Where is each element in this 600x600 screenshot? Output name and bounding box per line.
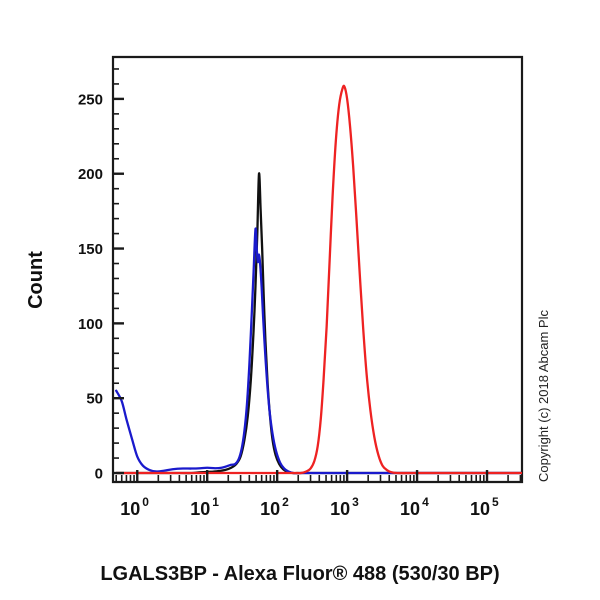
x-tick-label: 102 [260,495,289,519]
y-tick-label: 200 [78,166,103,183]
svg-text:1: 1 [212,495,219,509]
svg-text:10: 10 [330,499,350,519]
x-tick-label: 101 [190,495,219,519]
x-tick-label: 104 [400,495,429,519]
svg-text:10: 10 [260,499,280,519]
flow-cytometry-figure: 100101102103104105 050100150200250 LGALS… [0,0,600,600]
y-tick-label: 150 [78,241,103,258]
svg-text:4: 4 [422,495,429,509]
y-axis-title: Count [25,251,47,309]
y-tick-label: 250 [78,91,103,108]
y-axis-ticks: 050100150200250 [78,69,124,483]
trace-lgals3bp-stained [116,86,522,473]
x-tick-label: 105 [470,495,499,519]
x-axis-ticks: 100101102103104105 [116,470,520,519]
svg-text:2: 2 [282,495,289,509]
svg-text:10: 10 [120,499,140,519]
svg-text:10: 10 [190,499,210,519]
y-tick-label: 50 [86,391,103,408]
svg-text:0: 0 [142,495,149,509]
svg-text:10: 10 [470,499,490,519]
y-tick-label: 0 [95,466,103,483]
svg-text:5: 5 [492,495,499,509]
x-tick-label: 100 [120,495,149,519]
x-tick-label: 103 [330,495,359,519]
svg-text:10: 10 [400,499,420,519]
copyright-notice: Copyright (c) 2018 Abcam Plc [536,310,551,482]
histogram-plot: 100101102103104105 050100150200250 LGALS… [0,0,600,600]
y-tick-label: 100 [78,316,103,333]
x-axis-title: LGALS3BP - Alexa Fluor® 488 (530/30 BP) [100,563,499,585]
plot-axes [113,57,522,482]
svg-text:3: 3 [352,495,359,509]
histogram-traces [116,86,522,473]
plot-frame [113,57,522,482]
